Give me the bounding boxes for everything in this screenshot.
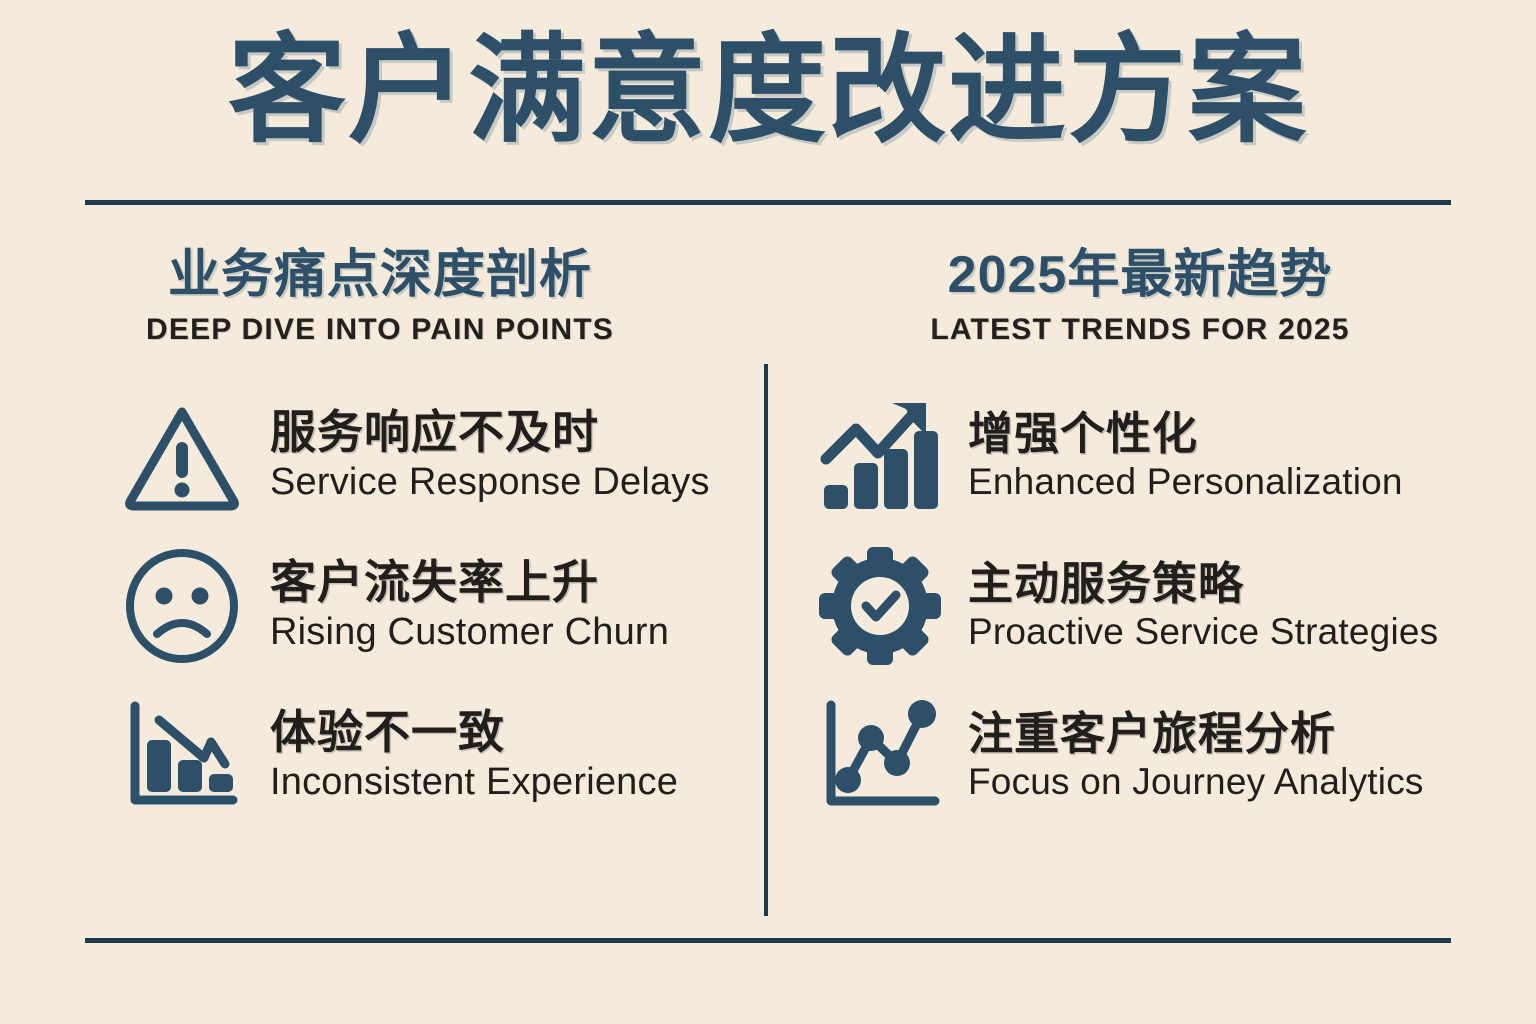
column-right-heading-en: LATEST TRENDS FOR 2025 — [790, 313, 1490, 347]
list-item-label-en: Service Response Delays — [270, 461, 710, 505]
list-item-text: 增强个性化 Enhanced Personalization — [968, 409, 1403, 504]
column-left-heading-cn: 业务痛点深度剖析 — [30, 232, 730, 307]
list-item: 体验不一致 Inconsistent Experience — [30, 681, 730, 831]
divider-top — [85, 200, 1451, 205]
list-item-text: 体验不一致 Inconsistent Experience — [270, 707, 678, 804]
list-item: 主动服务策略 Proactive Service Strategies — [790, 531, 1490, 681]
list-item-text: 注重客户旅程分析 Focus on Journey Analytics — [968, 709, 1424, 804]
poster-title-area: 客户满意度改进方案 — [0, 24, 1536, 160]
list-item-label-cn: 客户流失率上升 — [270, 557, 669, 609]
list-item: 客户流失率上升 Rising Customer Churn — [30, 531, 730, 681]
list-item: 增强个性化 Enhanced Personalization — [790, 381, 1490, 531]
rising-bar-chart-arrow-icon — [814, 394, 946, 518]
column-left-items: 服务响应不及时 Service Response Delays 客户流失率上升 … — [30, 381, 730, 831]
column-right-header: 2025年最新趋势 LATEST TRENDS FOR 2025 — [790, 232, 1490, 347]
column-left-heading-en: DEEP DIVE INTO PAIN POINTS — [30, 313, 730, 347]
column-trends: 2025年最新趋势 LATEST TRENDS FOR 2025 增强个性化 — [790, 232, 1490, 831]
page-title: 客户满意度改进方案 — [0, 24, 1536, 160]
list-item-label-cn: 服务响应不及时 — [270, 407, 710, 459]
list-item-text: 服务响应不及时 Service Response Delays — [270, 407, 710, 504]
list-item-text: 客户流失率上升 Rising Customer Churn — [270, 557, 669, 654]
list-item-text: 主动服务策略 Proactive Service Strategies — [968, 559, 1438, 654]
list-item-label-cn: 注重客户旅程分析 — [968, 709, 1424, 759]
list-item-label-cn: 体验不一致 — [270, 707, 678, 759]
list-item-label-cn: 增强个性化 — [968, 409, 1403, 459]
list-item-label-en: Rising Customer Churn — [270, 611, 669, 655]
list-item: 注重客户旅程分析 Focus on Journey Analytics — [790, 681, 1490, 831]
column-right-items: 增强个性化 Enhanced Personalization — [790, 381, 1490, 831]
list-item-label-en: Enhanced Personalization — [968, 461, 1403, 504]
list-item: 服务响应不及时 Service Response Delays — [30, 381, 730, 531]
list-item-label-en: Proactive Service Strategies — [968, 611, 1438, 654]
column-left-header: 业务痛点深度剖析 DEEP DIVE INTO PAIN POINTS — [30, 232, 730, 347]
column-pain-points: 业务痛点深度剖析 DEEP DIVE INTO PAIN POINTS 服务响应… — [30, 232, 730, 831]
divider-vertical — [764, 364, 768, 916]
list-item-label-cn: 主动服务策略 — [968, 559, 1438, 609]
declining-bar-chart-icon — [116, 694, 248, 818]
infographic-poster: 客户满意度改进方案 业务痛点深度剖析 DEEP DIVE INTO PAIN P… — [0, 0, 1536, 1024]
sad-face-icon — [116, 544, 248, 668]
divider-bottom — [85, 938, 1451, 943]
list-item-label-en: Inconsistent Experience — [270, 761, 678, 805]
line-chart-nodes-icon — [814, 694, 946, 818]
column-right-heading-cn: 2025年最新趋势 — [790, 232, 1490, 307]
gear-check-icon — [814, 544, 946, 668]
warning-triangle-icon — [116, 394, 248, 518]
list-item-label-en: Focus on Journey Analytics — [968, 761, 1424, 804]
